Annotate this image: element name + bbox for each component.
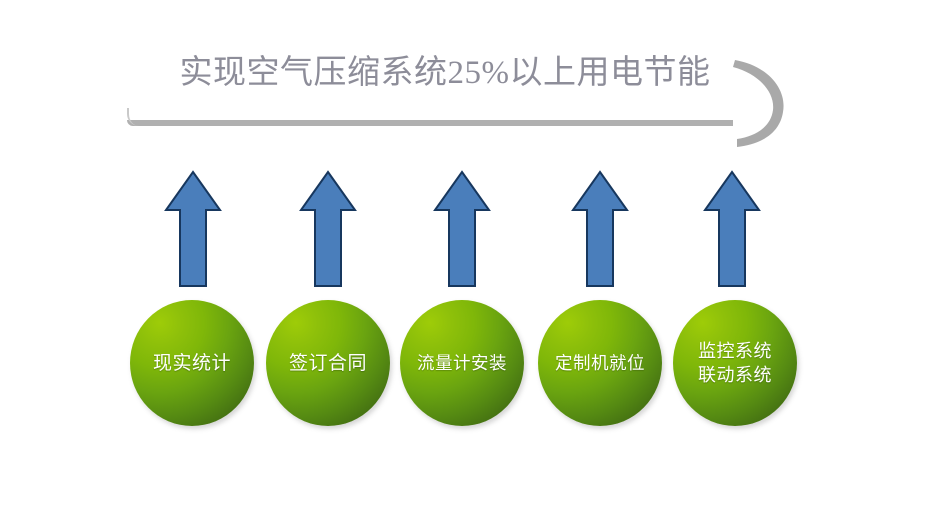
process-node-label-1: 现实统计: [149, 351, 235, 376]
process-node-4[interactable]: 定制机就位: [538, 300, 662, 426]
process-node-3[interactable]: 流量计安装: [400, 300, 524, 426]
process-node-1[interactable]: 现实统计: [130, 300, 254, 426]
process-node-2[interactable]: 签订合同: [266, 300, 390, 426]
banner-bottom-rule: [127, 120, 733, 126]
up-arrow-icon-1: [164, 170, 222, 288]
process-node-label-2: 签订合同: [285, 351, 371, 376]
up-arrow-icon-2: [299, 170, 357, 288]
up-arrow-icon-4: [571, 170, 629, 288]
page-title: 实现空气压缩系统25%以上用电节能: [155, 48, 735, 98]
process-node-5[interactable]: 监控系统 联动系统: [673, 300, 797, 426]
up-arrow-icon-3: [433, 170, 491, 288]
process-node-label-3: 流量计安装: [413, 351, 511, 376]
process-node-label-4: 定制机就位: [551, 351, 649, 376]
up-arrow-icon-5: [703, 170, 761, 288]
process-node-label-5: 监控系统 联动系统: [694, 339, 776, 387]
title-banner: 实现空气压缩系统25%以上用电节能: [127, 36, 767, 131]
slide-canvas: 实现空气压缩系统25%以上用电节能 现实统计 签订合同 流量计安装 定制机就位 …: [0, 0, 945, 529]
